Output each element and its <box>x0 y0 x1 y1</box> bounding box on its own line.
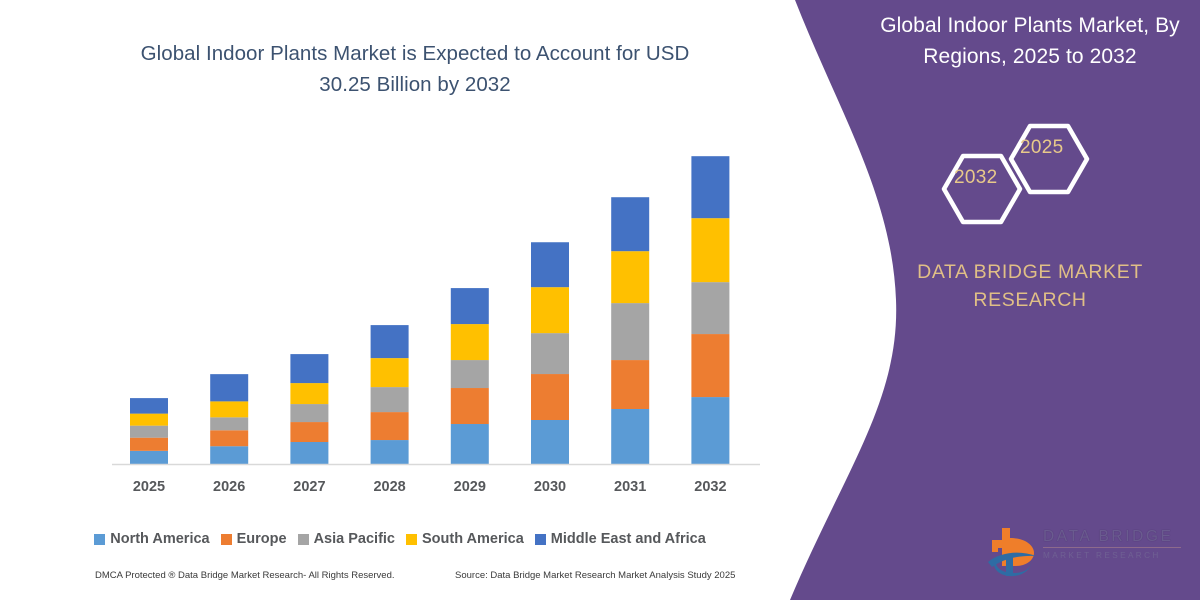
infographic-page: Global Indoor Plants Market, By Regions,… <box>0 0 1200 600</box>
bar-segment <box>371 325 409 358</box>
legend-label: South America <box>422 531 524 547</box>
x-axis-tick-label: 2028 <box>355 479 425 495</box>
logo-subtitle: MARKET RESEARCH <box>1043 550 1185 561</box>
bar-segment <box>451 360 489 388</box>
x-axis-tick-label: 2032 <box>675 479 745 495</box>
bar-segment <box>290 422 328 442</box>
bar-segment <box>210 417 248 430</box>
bar-segment <box>451 424 489 464</box>
bar-segment <box>371 440 409 464</box>
bar-segment <box>611 303 649 360</box>
bar-segment <box>130 438 168 451</box>
x-axis-tick-label: 2031 <box>595 479 665 495</box>
legend-item[interactable]: South America <box>406 531 524 547</box>
bar-segment <box>130 451 168 464</box>
brand-name: DATA BRIDGE MARKET RESEARCH <box>880 258 1180 314</box>
logo-mark-icon <box>986 522 1046 578</box>
bar-segment <box>531 374 569 420</box>
hexagon-2032-label: 2032 <box>954 167 997 189</box>
legend-label: Middle East and Africa <box>551 531 706 547</box>
data-bridge-logo: DATA BRIDGE MARKET RESEARCH <box>986 522 1186 580</box>
x-axis-tick-label: 2027 <box>274 479 344 495</box>
bar-segment <box>531 420 569 464</box>
bar-segment <box>451 388 489 424</box>
bar-segment <box>611 409 649 464</box>
bar-segment <box>371 412 409 440</box>
legend-label: Europe <box>237 531 287 547</box>
legend-item[interactable]: North America <box>94 531 209 547</box>
bar-segment <box>210 446 248 464</box>
bar-segment <box>210 401 248 417</box>
bar-segment <box>611 360 649 409</box>
legend-label: Asia Pacific <box>314 531 395 547</box>
logo-divider <box>1043 547 1181 548</box>
bar-segment <box>130 426 168 438</box>
bar-segment <box>290 404 328 422</box>
bar-segment <box>451 288 489 324</box>
stacked-bar-chart: 20252026202720282029203020312032 <box>0 0 800 520</box>
x-axis-tick-label: 2025 <box>114 479 184 495</box>
bar-segment <box>691 282 729 334</box>
bar-segment <box>371 358 409 387</box>
bar-segment <box>611 197 649 251</box>
footer-copyright: DMCA Protected ® Data Bridge Market Rese… <box>95 570 395 581</box>
bar-segment <box>371 387 409 412</box>
legend-swatch <box>94 534 105 545</box>
logo-wordmark: DATA BRIDGE MARKET RESEARCH <box>1043 528 1185 561</box>
legend-swatch <box>298 534 309 545</box>
legend-item[interactable]: Asia Pacific <box>298 531 395 547</box>
hexagon-2025-outline <box>1011 126 1087 192</box>
bar-segment <box>611 251 649 303</box>
legend-item[interactable]: Middle East and Africa <box>535 531 706 547</box>
bar-segment <box>691 156 729 218</box>
x-axis-tick-label: 2029 <box>435 479 505 495</box>
footer-source: Source: Data Bridge Market Research Mark… <box>455 570 735 581</box>
logo-title: DATA BRIDGE <box>1043 528 1185 545</box>
bar-segment <box>290 383 328 404</box>
bar-segment <box>210 430 248 446</box>
bar-segment <box>130 398 168 414</box>
bar-segment <box>691 334 729 397</box>
panel-heading: Global Indoor Plants Market, By Regions,… <box>872 10 1188 72</box>
x-axis-tick-label: 2026 <box>194 479 264 495</box>
bar-segment <box>210 374 248 401</box>
chart-legend: North AmericaEuropeAsia PacificSouth Ame… <box>0 531 800 547</box>
legend-label: North America <box>110 531 209 547</box>
bar-segment <box>290 442 328 464</box>
bar-segment <box>531 242 569 287</box>
bar-segment <box>451 324 489 360</box>
x-axis-tick-label: 2030 <box>515 479 585 495</box>
legend-swatch <box>406 534 417 545</box>
hexagon-2025-label: 2025 <box>1020 137 1063 159</box>
bar-segment <box>531 333 569 374</box>
bar-segment <box>290 354 328 383</box>
legend-swatch <box>535 534 546 545</box>
legend-item[interactable]: Europe <box>221 531 287 547</box>
bar-segment <box>531 287 569 333</box>
hexagon-2032-outline <box>944 156 1020 222</box>
legend-swatch <box>221 534 232 545</box>
bar-segment <box>691 397 729 464</box>
bar-segment <box>691 218 729 282</box>
hexagon-group: 2032 2025 <box>925 110 1125 240</box>
bars-group <box>130 156 729 464</box>
bar-segment <box>130 414 168 426</box>
